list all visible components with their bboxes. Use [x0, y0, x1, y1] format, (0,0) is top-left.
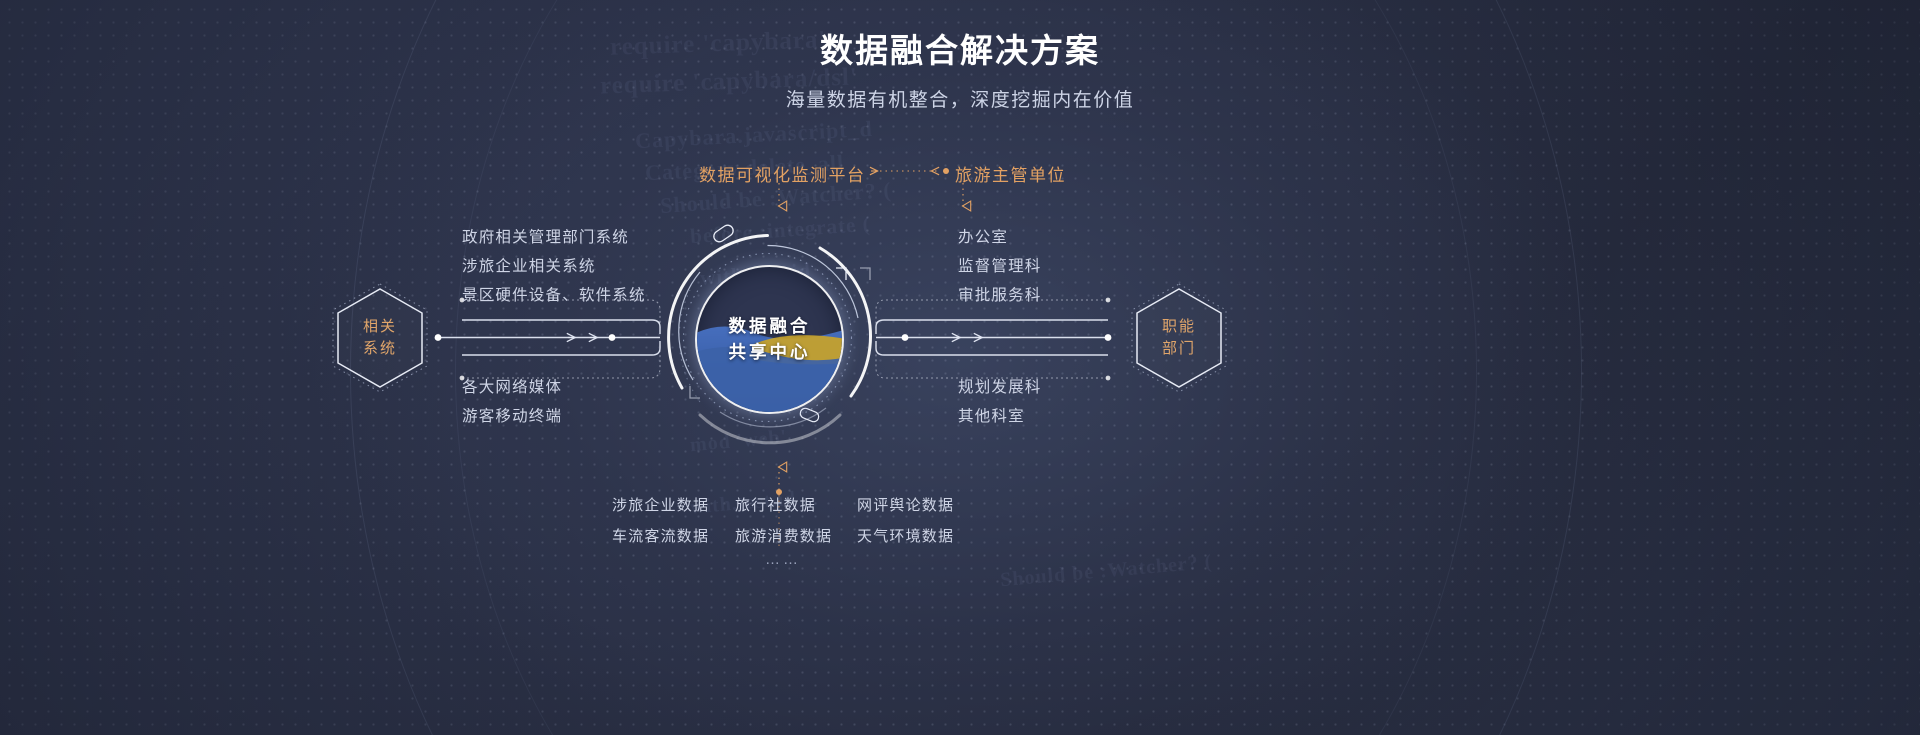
label-bottom-data-r2c3[interactable]: 天气环境数据 — [857, 525, 954, 546]
label-bottom-data-r1c3[interactable]: 网评舆论数据 — [857, 494, 954, 515]
label-right-dept-3[interactable]: 审批服务科 — [958, 283, 1042, 305]
label-bottom-data-r2c1[interactable]: 车流客流数据 — [612, 525, 709, 546]
label-bottom-data-r2c2[interactable]: 旅游消费数据 — [735, 525, 832, 546]
label-left-source-1[interactable]: 政府相关管理部门系统 — [462, 225, 629, 247]
hub-core-circle: 数据融合 共享中心 — [695, 265, 844, 414]
hex-right-line1: 职能 — [1162, 316, 1196, 338]
header-block: 数据融合解决方案 海量数据有机整合，深度挖掘内在价值 — [0, 30, 1920, 112]
page-subtitle: 海量数据有机整合，深度挖掘内在价值 — [0, 85, 1920, 112]
hexagon-node-functional-departments[interactable]: 职能 部门 — [1130, 283, 1228, 393]
label-visualization-platform[interactable]: 数据可视化监测平台 — [699, 161, 866, 186]
hex-right-line2: 部门 — [1162, 338, 1196, 360]
label-right-dept-2[interactable]: 监督管理科 — [958, 254, 1042, 276]
label-left-source-2[interactable]: 涉旅企业相关系统 — [462, 254, 596, 276]
hexagon-right-label: 职能 部门 — [1130, 283, 1228, 393]
hub-line1: 数据融合 — [729, 314, 811, 339]
label-bottom-data-r1c1[interactable]: 涉旅企业数据 — [612, 494, 709, 515]
page-title: 数据融合解决方案 — [0, 30, 1920, 71]
label-right-dept-4[interactable]: 规划发展科 — [958, 375, 1042, 397]
central-hub[interactable]: 数据融合 共享中心 — [660, 230, 875, 445]
label-right-dept-5[interactable]: 其他科室 — [958, 404, 1025, 426]
hub-line2: 共享中心 — [729, 340, 811, 365]
label-tourism-authority[interactable]: 旅游主管单位 — [955, 161, 1066, 186]
hub-core-label: 数据融合 共享中心 — [697, 267, 842, 412]
hexagon-left-label: 相关 系统 — [331, 283, 429, 393]
label-left-source-3[interactable]: 景区硬件设备、软件系统 — [462, 283, 646, 305]
hexagon-node-related-systems[interactable]: 相关 系统 — [331, 283, 429, 393]
label-left-source-4[interactable]: 各大网络媒体 — [462, 375, 562, 397]
hex-left-line1: 相关 — [363, 316, 397, 338]
label-bottom-data-r1c2[interactable]: 旅行社数据 — [735, 494, 816, 515]
label-left-source-5[interactable]: 游客移动终端 — [462, 404, 562, 426]
label-bottom-ellipsis: …… — [765, 551, 801, 568]
hex-left-line2: 系统 — [363, 338, 397, 360]
label-right-dept-1[interactable]: 办公室 — [958, 225, 1008, 247]
